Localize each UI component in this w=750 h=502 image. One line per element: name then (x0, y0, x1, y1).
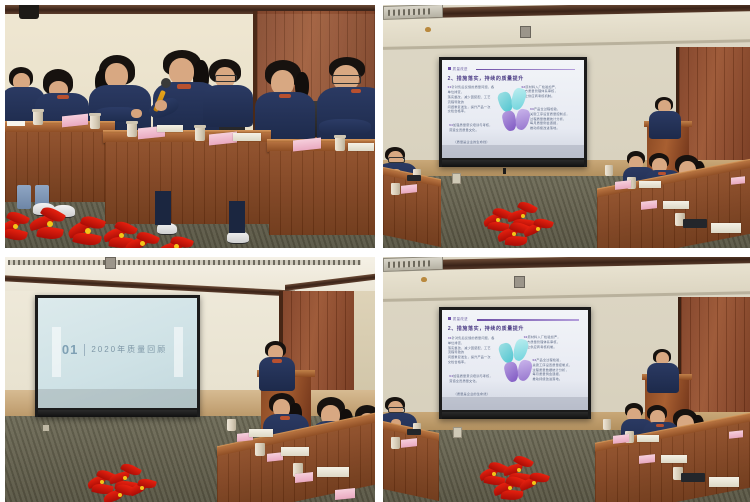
projection-screen: 01 2020年质量回顾 (35, 295, 200, 417)
slide-block: 03产品全过程检验， 关键工序设置质量控制点， 过程质量数据统计分析， 每月质量… (530, 107, 578, 131)
name-card (613, 434, 629, 444)
cup-lid (32, 109, 44, 112)
name-card (729, 430, 743, 438)
slide-block: 04加强质量意识培训与考核， 营造全员质量文化。 (449, 123, 500, 133)
paper-cup (255, 443, 265, 456)
name-card (335, 488, 355, 500)
device (407, 429, 421, 435)
vent-control (105, 257, 116, 269)
notebook (157, 125, 183, 132)
person-presenter (647, 349, 679, 391)
projection-screen: 质量改进 2、措施落实，持续的质量提升 01针对售后反馈的质量问题，各 单位排查… (439, 307, 591, 419)
name-card (295, 472, 313, 483)
notebook (663, 201, 689, 209)
photo-top-left[interactable] (5, 5, 375, 248)
ceiling-fixture-icon (19, 5, 39, 19)
flower-cluster (87, 465, 157, 502)
slide-content: 质量改进 2、措施落实，持续的质量提升 01针对售后反馈的质量问题，各 单位排查… (442, 60, 584, 158)
slide-number: 01 (62, 342, 78, 357)
slide-title: 01 2020年质量回顾 (38, 298, 197, 408)
slide-block: 02原材料入厂检验加严， 供方质量管理体系审核， 建立供应商考核机制。 (522, 85, 576, 99)
screen-handle (503, 168, 506, 174)
flower-cluster (483, 201, 555, 247)
name-card (401, 184, 417, 194)
slide-block: 01针对售后反馈的质量问题，各 单位排查， 落实整改，减少因装配、工艺 流程导致… (448, 336, 501, 365)
legs (229, 201, 245, 233)
paper-cup (335, 137, 345, 151)
paper-cup (391, 437, 400, 449)
name-card (615, 180, 631, 190)
slide-title-row: 01 2020年质量回顾 (62, 342, 167, 357)
slide-heading: 2020年质量回顾 (91, 344, 167, 355)
notebook (348, 143, 374, 151)
name-card (401, 438, 417, 448)
name-card (731, 176, 745, 184)
slide-divider (84, 344, 85, 356)
paper-cup (33, 111, 43, 125)
photo-collage: 质量改进 2、措施落实，持续的质量提升 01针对售后反馈的质量问题，各 单位排查… (0, 0, 750, 500)
notebook (233, 133, 261, 141)
device (683, 219, 707, 228)
wall-outlet-icon (452, 173, 461, 184)
notebook (709, 477, 739, 487)
photo-bottom-right[interactable]: 质量改进 2、措施落实，持续的质量提升 01针对售后反馈的质量问题，各 单位排查… (383, 257, 750, 502)
name-card (641, 200, 657, 210)
flower-cluster (479, 455, 551, 501)
notebook (637, 435, 659, 442)
slide-content: 质量改进 2、措施落实，持续的质量提升 01针对售后反馈的质量问题，各 单位排查… (442, 310, 588, 410)
notebook (639, 181, 661, 188)
notebook (249, 429, 273, 437)
slide-heading: 2、措施落实，持续的质量提升 (448, 75, 524, 82)
ribbon-shape (514, 108, 531, 131)
wall-outlet-icon (453, 427, 462, 438)
sprinkler-icon (421, 277, 427, 282)
slide-block: 01针对售后反馈的质量问题，各 单位排查， 落实整改，减少因装配、工艺 流程导致… (448, 85, 499, 114)
slide-tag: 质量改进 (448, 316, 468, 321)
paper-sheet (7, 121, 25, 126)
cup-lid (194, 125, 206, 128)
glasses-icon (332, 75, 361, 84)
vent-control (520, 26, 531, 38)
paper-cup (391, 183, 400, 195)
ceiling-vent (383, 257, 443, 272)
paper-cup (227, 419, 236, 431)
projection-screen: 质量改进 2、措施落实，持续的质量提升 01针对售后反馈的质量问题，各 单位排查… (439, 57, 587, 167)
notebook (281, 447, 309, 456)
notebook (711, 223, 741, 233)
ribbon-shape (511, 338, 530, 363)
photo-bottom-left[interactable]: 01 2020年质量回顾 (5, 257, 375, 502)
microphone-head-icon (161, 78, 171, 88)
name-card (639, 454, 655, 464)
person-attendee (203, 59, 251, 119)
slide-block: 04加强质量意识培训与考核， 营造全员质量文化。 (449, 374, 502, 384)
paper-cup (605, 165, 613, 176)
ribbon-shape (509, 87, 527, 111)
slide-heading: 2、措施落实，持续的质量提升 (448, 325, 524, 332)
photo-top-right[interactable]: 质量改进 2、措施落实，持续的质量提升 01针对售后反馈的质量问题，各 单位排查… (383, 5, 750, 248)
wall-outlet-icon (43, 425, 49, 431)
notebook (317, 467, 349, 477)
slide-rule (476, 69, 575, 71)
cup-lid (334, 135, 346, 138)
legs (155, 191, 171, 225)
person-presenter (649, 97, 681, 137)
ceiling-vent (383, 5, 443, 20)
glasses-icon (215, 75, 237, 82)
device (407, 175, 421, 181)
paper-cup (127, 123, 137, 137)
device (681, 473, 705, 482)
person-presenter (259, 341, 295, 389)
flower-cluster (5, 201, 139, 248)
table-front (269, 151, 375, 235)
slide-block: 02原材料入厂检验加严， 供方质量管理体系审核， 建立供应商考核机制。 (524, 335, 579, 349)
slide-rule (477, 319, 579, 321)
paper-cup (90, 115, 100, 129)
vent-control (514, 276, 525, 288)
paper-cup (603, 419, 611, 430)
slide-tag: 质量改进 (448, 66, 468, 71)
flower-cluster (125, 233, 215, 248)
sprinkler-icon (425, 27, 431, 32)
person-attendee (323, 57, 375, 143)
ribbon-shape (516, 359, 534, 383)
cup-lid (89, 113, 101, 116)
person-attendee (253, 60, 313, 140)
paper-cup (195, 127, 205, 141)
cup-lid (126, 121, 138, 124)
notebook (661, 455, 687, 463)
slide-block: 03产品全过程检验， 关键工序设置质量控制点， 过程质量数据统计分析， 每月质量… (533, 358, 583, 382)
